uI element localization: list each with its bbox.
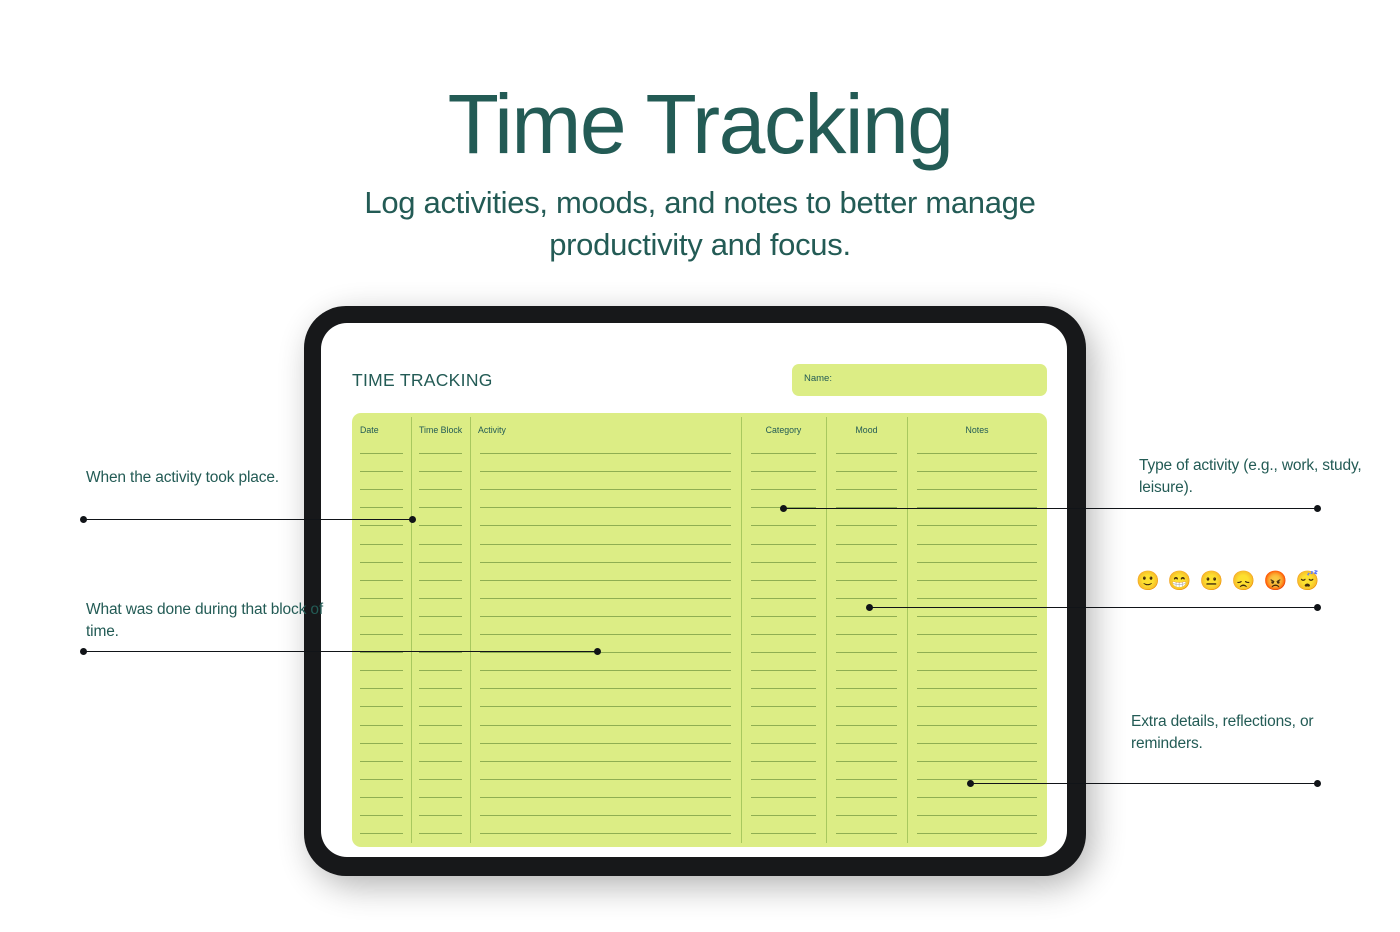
table-row-line[interactable] (360, 616, 403, 617)
annotation-activity-dot-right (594, 648, 601, 655)
table-row-line[interactable] (751, 652, 816, 653)
column-header-mood: Mood (826, 425, 907, 435)
annotation-mood-dot-right (1314, 604, 1321, 611)
table-row-line[interactable] (419, 562, 462, 563)
table-row-line[interactable] (751, 779, 816, 780)
column-header-notes: Notes (907, 425, 1047, 435)
annotation-notes-line (970, 783, 1317, 784)
column-divider-category (741, 417, 742, 843)
table-row-line[interactable] (836, 489, 897, 490)
table-row-line[interactable] (917, 489, 1037, 490)
table-row-line[interactable] (360, 525, 403, 526)
table-row-line[interactable] (419, 725, 462, 726)
table-row-line[interactable] (836, 815, 897, 816)
table-row-line[interactable] (419, 489, 462, 490)
tablet-screen: TIME TRACKING Name: DateTime BlockActivi… (321, 323, 1067, 857)
annotation-date-dot-right (409, 516, 416, 523)
table-row-line[interactable] (836, 743, 897, 744)
table-row-line[interactable] (480, 779, 731, 780)
table-row-line[interactable] (751, 471, 816, 472)
table-row-line[interactable] (480, 544, 731, 545)
table-row-line[interactable] (419, 761, 462, 762)
table-row-line[interactable] (419, 815, 462, 816)
table-row-line[interactable] (419, 688, 462, 689)
table-row-line[interactable] (480, 761, 731, 762)
annotation-activity-note: What was done during that block of time. (86, 599, 346, 642)
table-row-line[interactable] (917, 634, 1037, 635)
table-row-line[interactable] (419, 634, 462, 635)
annotation-date-note: When the activity took place. (86, 467, 336, 489)
table-row-line[interactable] (917, 598, 1037, 599)
table-row-line[interactable] (360, 562, 403, 563)
table-row-line[interactable] (751, 525, 816, 526)
table-row-line[interactable] (917, 688, 1037, 689)
table-row-line[interactable] (751, 670, 816, 671)
table-row-line[interactable] (480, 833, 731, 834)
table-row-line[interactable] (917, 815, 1037, 816)
table-row-line[interactable] (360, 670, 403, 671)
table-row-line[interactable] (751, 489, 816, 490)
table-row-line[interactable] (751, 833, 816, 834)
table-row-line[interactable] (480, 725, 731, 726)
table-row-line[interactable] (836, 616, 897, 617)
table-row-line[interactable] (917, 797, 1037, 798)
table-row-line[interactable] (419, 471, 462, 472)
table-row-line[interactable] (836, 525, 897, 526)
table-row-line[interactable] (751, 616, 816, 617)
table-row-line[interactable] (480, 634, 731, 635)
table-row-line[interactable] (917, 580, 1037, 581)
page-subtitle: Log activities, moods, and notes to bett… (350, 182, 1050, 266)
table-row-line[interactable] (360, 507, 403, 508)
column-header-category: Category (741, 425, 826, 435)
table-row-line[interactable] (836, 761, 897, 762)
table-row-line[interactable] (751, 688, 816, 689)
annotation-date-line (83, 519, 415, 520)
table-row-line[interactable] (836, 453, 897, 454)
annotation-activity-line (83, 651, 600, 652)
table-row-line[interactable] (836, 652, 897, 653)
table-row-line[interactable] (917, 725, 1037, 726)
table-row-line[interactable] (360, 688, 403, 689)
name-input-field[interactable]: Name: (792, 364, 1047, 396)
table-row-line[interactable] (836, 634, 897, 635)
table-row-line[interactable] (480, 815, 731, 816)
column-header-activity: Activity (478, 425, 506, 435)
table-row-line[interactable] (917, 779, 1037, 780)
table-row-line[interactable] (360, 489, 403, 490)
tablet-device-frame: TIME TRACKING Name: DateTime BlockActivi… (304, 306, 1086, 876)
table-row-line[interactable] (419, 797, 462, 798)
table-row-line[interactable] (480, 598, 731, 599)
table-row-line[interactable] (751, 761, 816, 762)
table-row-line[interactable] (917, 670, 1037, 671)
table-row-line[interactable] (836, 471, 897, 472)
table-row-line[interactable] (480, 743, 731, 744)
annotation-notes-dot-right (1314, 780, 1321, 787)
table-row-line[interactable] (360, 815, 403, 816)
table-row-line[interactable] (419, 779, 462, 780)
table-row-line[interactable] (419, 598, 462, 599)
table-row-line[interactable] (917, 471, 1037, 472)
table-row-line[interactable] (917, 761, 1037, 762)
table-row-line[interactable] (480, 471, 731, 472)
table-row-line[interactable] (836, 580, 897, 581)
worksheet-title: TIME TRACKING (352, 370, 493, 391)
table-row-line[interactable] (480, 706, 731, 707)
table-row-line[interactable] (480, 489, 731, 490)
table-row-line[interactable] (751, 706, 816, 707)
table-row-line[interactable] (360, 580, 403, 581)
column-header-date: Date (360, 425, 379, 435)
time-tracking-table: DateTime BlockActivityCategoryMoodNotes (352, 413, 1047, 847)
table-row-line[interactable] (751, 453, 816, 454)
table-row-line[interactable] (419, 507, 462, 508)
table-row-line[interactable] (419, 670, 462, 671)
table-row-line[interactable] (917, 652, 1037, 653)
table-row-line[interactable] (480, 562, 731, 563)
table-row-line[interactable] (480, 580, 731, 581)
table-row-line[interactable] (917, 616, 1037, 617)
table-row-line[interactable] (751, 544, 816, 545)
table-row-line[interactable] (836, 779, 897, 780)
table-row-line[interactable] (751, 562, 816, 563)
table-row-line[interactable] (480, 670, 731, 671)
page-title: Time Tracking (0, 76, 1400, 172)
table-row-line[interactable] (751, 634, 816, 635)
table-row-line[interactable] (360, 797, 403, 798)
table-row-line[interactable] (360, 471, 403, 472)
table-row-line[interactable] (419, 580, 462, 581)
annotation-notes-note: Extra details, reflections, or reminders… (1131, 711, 1351, 754)
table-row-line[interactable] (917, 833, 1037, 834)
table-row-line[interactable] (419, 616, 462, 617)
table-row-line[interactable] (917, 562, 1037, 563)
table-row-line[interactable] (419, 453, 462, 454)
column-divider-activity (470, 417, 471, 843)
table-row-line[interactable] (836, 797, 897, 798)
table-row-line[interactable] (360, 453, 403, 454)
table-row-line[interactable] (917, 525, 1037, 526)
table-row-line[interactable] (360, 779, 403, 780)
table-row-line[interactable] (480, 797, 731, 798)
table-row-line[interactable] (480, 507, 731, 508)
table-row-line[interactable] (360, 634, 403, 635)
name-field-label: Name: (804, 373, 832, 384)
table-row-line[interactable] (360, 761, 403, 762)
table-row-line[interactable] (419, 525, 462, 526)
column-header-time_block: Time Block (419, 425, 462, 435)
table-row-line[interactable] (419, 833, 462, 834)
table-row-line[interactable] (836, 562, 897, 563)
column-divider-notes (907, 417, 908, 843)
table-row-line[interactable] (751, 580, 816, 581)
table-row-line[interactable] (836, 598, 897, 599)
mood-scale-emojis: 🙂 😁 😐 😞 😡 😴 (1136, 570, 1321, 594)
table-row-line[interactable] (480, 652, 731, 653)
table-row-line[interactable] (917, 453, 1037, 454)
table-row-line[interactable] (917, 706, 1037, 707)
annotation-mood-line (869, 607, 1317, 608)
annotation-category-note: Type of activity (e.g., work, study, lei… (1139, 455, 1374, 498)
table-row-line[interactable] (836, 725, 897, 726)
table-row-line[interactable] (360, 725, 403, 726)
table-row-line[interactable] (751, 797, 816, 798)
table-row-line[interactable] (480, 525, 731, 526)
table-row-line[interactable] (419, 706, 462, 707)
table-row-line[interactable] (836, 706, 897, 707)
annotation-category-dot-right (1314, 505, 1321, 512)
table-row-line[interactable] (836, 833, 897, 834)
table-row-line[interactable] (360, 652, 403, 653)
table-row-line[interactable] (917, 743, 1037, 744)
table-row-line[interactable] (480, 616, 731, 617)
table-row-line[interactable] (836, 670, 897, 671)
table-row-line[interactable] (419, 544, 462, 545)
table-row-line[interactable] (917, 544, 1037, 545)
table-row-line[interactable] (751, 815, 816, 816)
table-row-line[interactable] (360, 706, 403, 707)
table-row-line[interactable] (751, 725, 816, 726)
table-row-line[interactable] (360, 598, 403, 599)
column-divider-time_block (411, 417, 412, 843)
column-divider-mood (826, 417, 827, 843)
table-row-line[interactable] (751, 598, 816, 599)
table-row-line[interactable] (360, 544, 403, 545)
table-row-line[interactable] (419, 652, 462, 653)
annotation-category-line (783, 508, 1317, 509)
table-row-line[interactable] (751, 743, 816, 744)
table-row-line[interactable] (836, 688, 897, 689)
table-row-line[interactable] (836, 544, 897, 545)
table-row-line[interactable] (360, 833, 403, 834)
table-row-line[interactable] (480, 688, 731, 689)
table-row-line[interactable] (480, 453, 731, 454)
table-row-line[interactable] (419, 743, 462, 744)
table-row-line[interactable] (360, 743, 403, 744)
